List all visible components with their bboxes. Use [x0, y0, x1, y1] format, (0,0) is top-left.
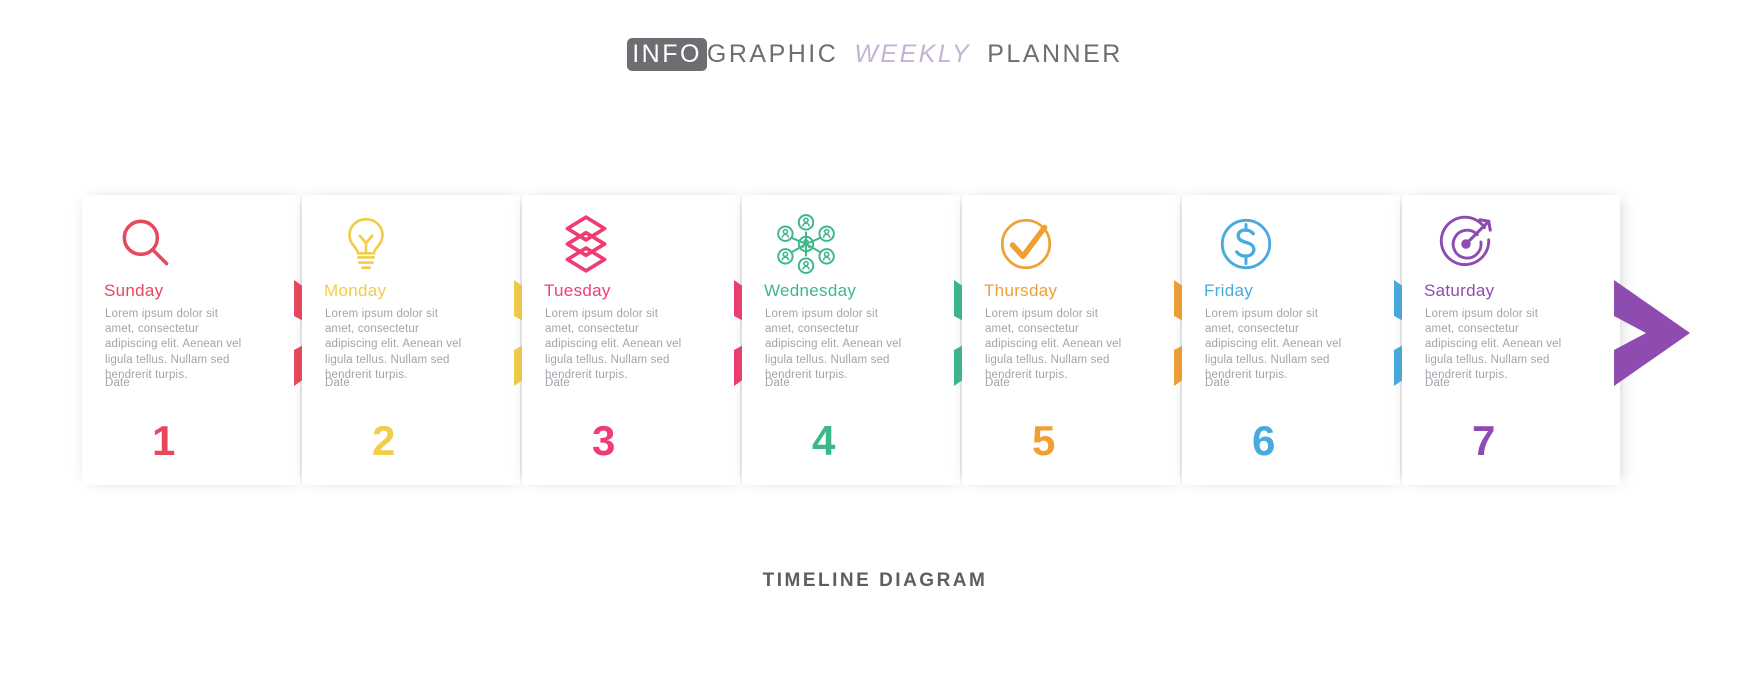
step-number: 4 — [812, 417, 836, 465]
step-arrow-icon — [1614, 280, 1690, 386]
step-day-label: Sunday — [104, 281, 163, 301]
step-card[interactable]: Tuesday Lorem ipsum dolor sit amet, cons… — [522, 195, 740, 485]
step-description: Lorem ipsum dolor sit amet, consectetur … — [765, 307, 909, 383]
timeline-step[interactable]: Wednesday Lorem ipsum dolor sit amet, co… — [742, 195, 989, 485]
step-card[interactable]: Sunday Lorem ipsum dolor sit amet, conse… — [82, 195, 300, 485]
step-date-label: Date — [105, 377, 130, 389]
step-date-label: Date — [1205, 377, 1230, 389]
step-card[interactable]: Thursday Lorem ipsum dolor sit amet, con… — [962, 195, 1180, 485]
step-day-label: Thursday — [984, 281, 1057, 301]
step-date-label: Date — [985, 377, 1010, 389]
check-circle-icon — [988, 211, 1064, 277]
step-description: Lorem ipsum dolor sit amet, consectetur … — [325, 307, 469, 383]
step-number: 6 — [1252, 417, 1276, 465]
step-card[interactable]: Saturday Lorem ipsum dolor sit amet, con… — [1402, 195, 1620, 485]
step-date-label: Date — [325, 377, 350, 389]
step-date-label: Date — [765, 377, 790, 389]
step-description: Lorem ipsum dolor sit amet, consectetur … — [545, 307, 689, 383]
dollar-circle-icon — [1208, 211, 1284, 277]
title-graphic-text: GRAPHIC — [707, 40, 838, 68]
step-description: Lorem ipsum dolor sit amet, consectetur … — [1205, 307, 1349, 383]
step-description: Lorem ipsum dolor sit amet, consectetur … — [1425, 307, 1569, 383]
timeline-step[interactable]: Monday Lorem ipsum dolor sit amet, conse… — [302, 195, 549, 485]
step-day-label: Wednesday — [764, 281, 856, 301]
title-info-badge: INFO — [627, 38, 707, 71]
step-day-label: Saturday — [1424, 281, 1494, 301]
step-card[interactable]: Friday Lorem ipsum dolor sit amet, conse… — [1182, 195, 1400, 485]
timeline-board: Sunday Lorem ipsum dolor sit amet, conse… — [0, 195, 1750, 485]
step-day-label: Monday — [324, 281, 386, 301]
page-title: INFOGRAPHICWEEKLYPLANNER — [0, 40, 1750, 69]
timeline-step[interactable]: Tuesday Lorem ipsum dolor sit amet, cons… — [522, 195, 769, 485]
search-icon — [108, 211, 184, 277]
step-card[interactable]: Monday Lorem ipsum dolor sit amet, conse… — [302, 195, 520, 485]
title-weekly-text: WEEKLY — [854, 40, 971, 68]
network-users-icon — [768, 211, 844, 277]
timeline-step[interactable]: Saturday Lorem ipsum dolor sit amet, con… — [1402, 195, 1649, 485]
step-number: 1 — [152, 417, 176, 465]
step-number: 2 — [372, 417, 396, 465]
step-number: 5 — [1032, 417, 1056, 465]
dropbox-diamonds-icon — [548, 211, 624, 277]
step-number: 3 — [592, 417, 616, 465]
timeline-step[interactable]: Thursday Lorem ipsum dolor sit amet, con… — [962, 195, 1209, 485]
timeline-step[interactable]: Sunday Lorem ipsum dolor sit amet, conse… — [82, 195, 329, 485]
step-description: Lorem ipsum dolor sit amet, consectetur … — [105, 307, 249, 383]
footer-caption: TIMELINE DIAGRAM — [0, 570, 1750, 592]
step-card[interactable]: Wednesday Lorem ipsum dolor sit amet, co… — [742, 195, 960, 485]
title-planner-text: PLANNER — [987, 40, 1123, 68]
target-dart-icon — [1428, 211, 1504, 277]
lightbulb-icon — [328, 211, 404, 277]
step-number: 7 — [1472, 417, 1496, 465]
step-date-label: Date — [545, 377, 570, 389]
step-date-label: Date — [1425, 377, 1450, 389]
step-description: Lorem ipsum dolor sit amet, consectetur … — [985, 307, 1129, 383]
step-day-label: Tuesday — [544, 281, 611, 301]
step-day-label: Friday — [1204, 281, 1253, 301]
timeline-step[interactable]: Friday Lorem ipsum dolor sit amet, conse… — [1182, 195, 1429, 485]
